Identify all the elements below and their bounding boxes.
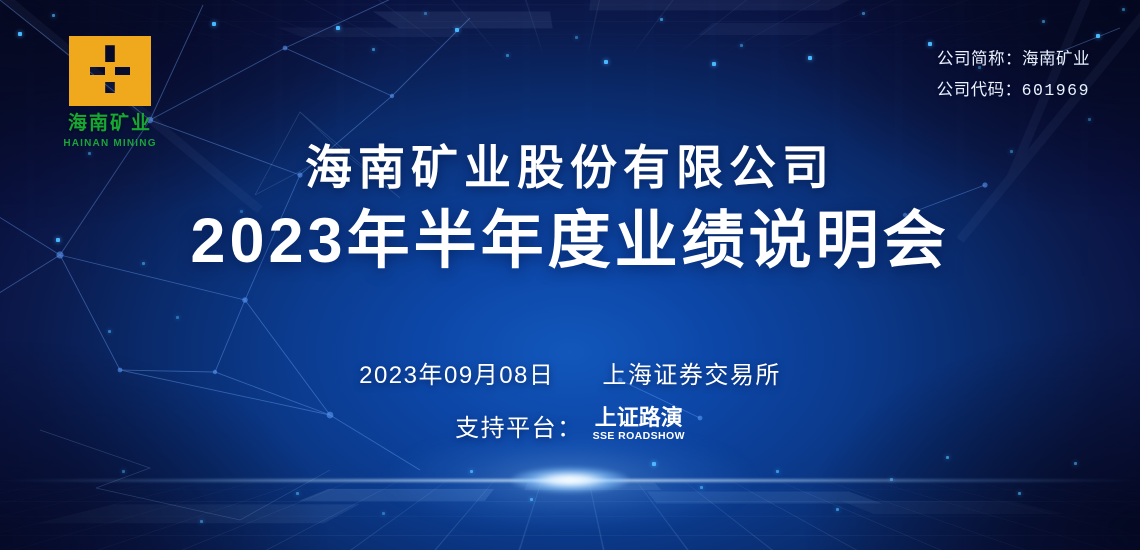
company-abbreviation-value: 海南矿业 xyxy=(1022,50,1090,68)
event-info: 2023年09月08日 上海证券交易所 支持平台： 上证路演 SSE ROADS… xyxy=(0,355,1140,444)
company-code-label: 公司代码： xyxy=(937,81,1022,99)
event-date-venue-row: 2023年09月08日 上海证券交易所 xyxy=(0,355,1140,390)
sse-roadshow-name-cn: 上证路演 xyxy=(593,407,685,429)
company-code-value: 601969 xyxy=(1022,81,1090,100)
company-logo: 海南矿业 HAINAN MINING xyxy=(46,36,174,149)
event-date: 2023年09月08日 xyxy=(359,355,554,390)
company-abbreviation-label: 公司简称： xyxy=(937,50,1022,68)
logo-name-cn: 海南矿业 xyxy=(46,114,174,135)
headline-company-name: 海南矿业股份有限公司 xyxy=(0,138,1140,198)
support-platform-label: 支持平台： xyxy=(455,408,583,443)
company-meta: 公司简称：海南矿业 公司代码：601969 xyxy=(937,44,1090,106)
event-support-row: 支持平台： 上证路演 SSE ROADSHOW xyxy=(0,407,1140,444)
horizon-flare-core xyxy=(511,467,629,493)
hainan-mining-m-mark-icon xyxy=(69,36,151,106)
headline-event-name: 2023年半年度业绩说明会 xyxy=(0,202,1140,281)
event-venue: 上海证券交易所 xyxy=(602,355,781,390)
page-title: 海南矿业股份有限公司 2023年半年度业绩说明会 xyxy=(0,138,1140,282)
sse-roadshow-logo: 上证路演 SSE ROADSHOW xyxy=(593,407,685,444)
company-abbreviation-row: 公司简称：海南矿业 xyxy=(937,44,1090,75)
sse-roadshow-name-en: SSE ROADSHOW xyxy=(593,431,685,442)
company-code-row: 公司代码：601969 xyxy=(937,75,1090,107)
presentation-banner: 海南矿业 HAINAN MINING 公司简称：海南矿业 公司代码：601969… xyxy=(0,0,1140,550)
